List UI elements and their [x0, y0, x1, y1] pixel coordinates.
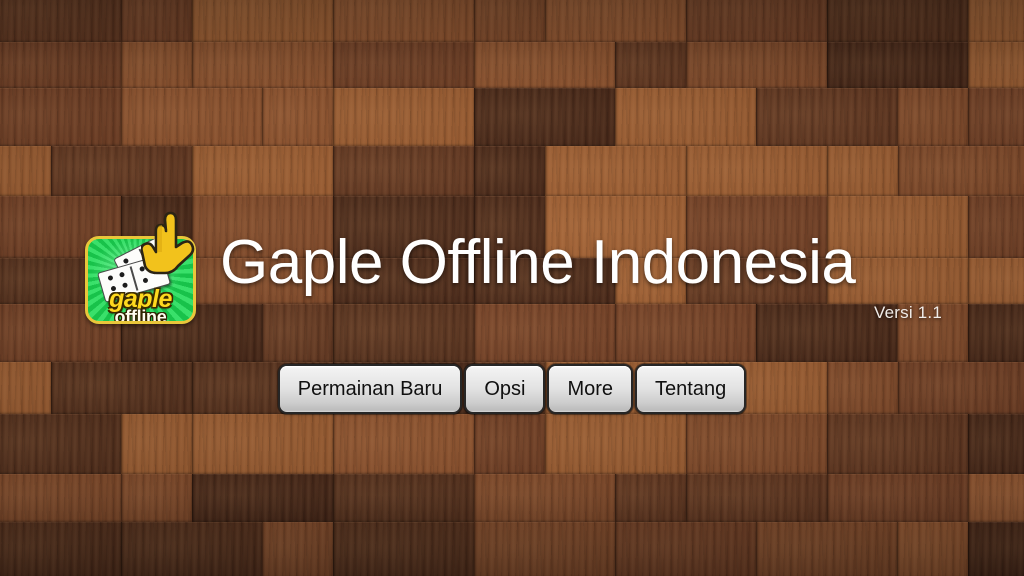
main-menu-button-row: Permainan Baru Opsi More Tentang: [0, 366, 1024, 412]
app-splash-screen: gaple offline Gaple Offline Indonesia Ve…: [0, 0, 1024, 576]
icon-label-offline: offline: [88, 307, 193, 324]
title-block: Gaple Offline Indonesia Versi 1.1: [220, 232, 942, 323]
about-button[interactable]: Tentang: [637, 366, 744, 412]
new-game-button[interactable]: Permainan Baru: [280, 366, 461, 412]
more-button[interactable]: More: [549, 366, 631, 412]
app-version-label: Versi 1.1: [220, 303, 942, 323]
page-title: Gaple Offline Indonesia: [220, 232, 942, 294]
options-button[interactable]: Opsi: [466, 366, 543, 412]
pointing-hand-icon: [141, 210, 197, 282]
app-icon: gaple offline: [85, 210, 203, 326]
